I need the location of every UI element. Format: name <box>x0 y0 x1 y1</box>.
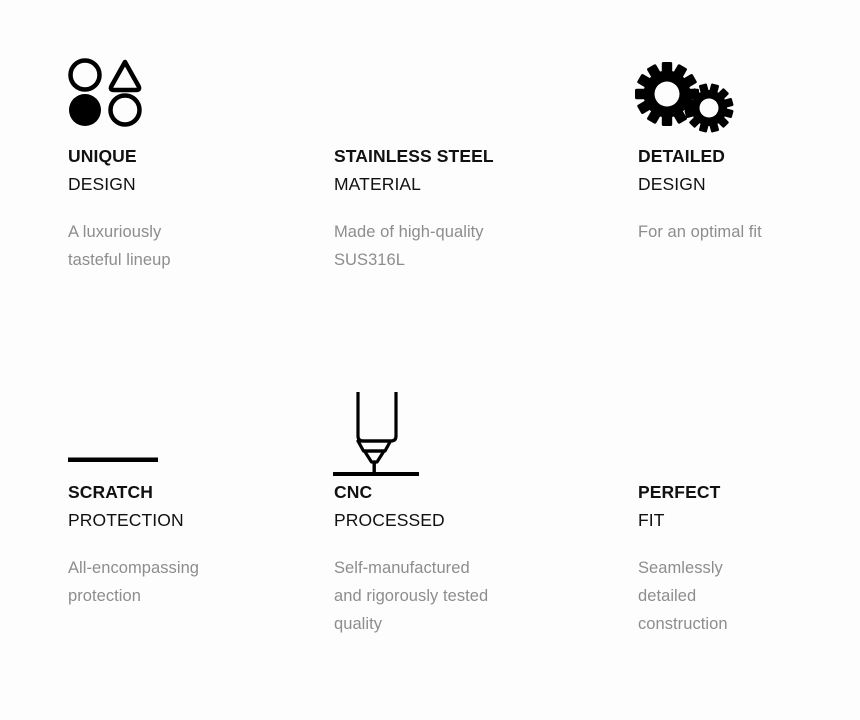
feature-card-stainless-steel-material: STAINLESS STEEL MATERIAL Made of high-qu… <box>334 46 614 346</box>
feature-icon-slot <box>68 46 318 142</box>
description-line: A luxuriously <box>68 218 318 246</box>
gears-icon <box>633 54 737 146</box>
feature-title-bold: DETAILED <box>638 142 848 170</box>
feature-description: For an optimal fit <box>638 218 848 246</box>
description-line: Seamlessly <box>638 554 848 582</box>
feature-card-scratch-protection: SCRATCH PROTECTION All-encompassing prot… <box>68 382 318 682</box>
feature-title: PERFECT FIT <box>638 478 848 534</box>
feature-description: Made of high-quality SUS316L <box>334 218 614 274</box>
feature-card-detailed-design: DETAILED DESIGN For an optimal fit <box>638 46 848 346</box>
description-line: SUS316L <box>334 246 614 274</box>
description-line: construction <box>638 610 848 638</box>
feature-icon-slot <box>334 46 614 142</box>
feature-title: CNC PROCESSED <box>334 478 614 534</box>
feature-title-regular: MATERIAL <box>334 170 614 198</box>
description-line: For an optimal fit <box>638 218 848 246</box>
feature-card-cnc-processed: CNC PROCESSED Self-manufactured and rigo… <box>334 382 614 682</box>
description-line: Self-manufactured <box>334 554 614 582</box>
feature-title-regular: PROCESSED <box>334 506 614 534</box>
feature-grid: UNIQUE DESIGN A luxuriously tasteful lin… <box>0 0 860 720</box>
feature-title-bold: STAINLESS STEEL <box>334 142 614 170</box>
feature-title: DETAILED DESIGN <box>638 142 848 198</box>
feature-title-regular: FIT <box>638 506 848 534</box>
shapes-icon <box>68 58 142 128</box>
feature-title-regular: DESIGN <box>68 170 318 198</box>
description-line: and rigorously tested <box>334 582 614 610</box>
feature-title-bold: SCRATCH <box>68 478 318 506</box>
feature-title: UNIQUE DESIGN <box>68 142 318 198</box>
feature-icon-slot <box>334 382 614 478</box>
feature-title-bold: CNC <box>334 478 614 506</box>
feature-title-regular: DESIGN <box>638 170 848 198</box>
feature-card-perfect-fit: PERFECT FIT Seamlessly detailed construc… <box>638 382 848 682</box>
description-line: protection <box>68 582 318 610</box>
horizontal-rule-icon <box>68 456 160 464</box>
description-line: tasteful lineup <box>68 246 318 274</box>
feature-title-bold: PERFECT <box>638 478 848 506</box>
feature-card-unique-design: UNIQUE DESIGN A luxuriously tasteful lin… <box>68 46 318 346</box>
feature-description: All-encompassing protection <box>68 554 318 610</box>
feature-title: STAINLESS STEEL MATERIAL <box>334 142 614 198</box>
feature-title-regular: PROTECTION <box>68 506 318 534</box>
description-line: detailed <box>638 582 848 610</box>
cnc-tool-icon <box>333 386 421 476</box>
feature-description: Self-manufactured and rigorously tested … <box>334 554 614 638</box>
description-line: Made of high-quality <box>334 218 614 246</box>
feature-title-bold: UNIQUE <box>68 142 318 170</box>
feature-description: A luxuriously tasteful lineup <box>68 218 318 274</box>
feature-title: SCRATCH PROTECTION <box>68 478 318 534</box>
description-line: quality <box>334 610 614 638</box>
feature-description: Seamlessly detailed construction <box>638 554 848 638</box>
description-line: All-encompassing <box>68 554 318 582</box>
feature-icon-slot <box>638 382 848 478</box>
feature-icon-slot <box>68 382 318 478</box>
feature-icon-slot <box>638 46 848 142</box>
